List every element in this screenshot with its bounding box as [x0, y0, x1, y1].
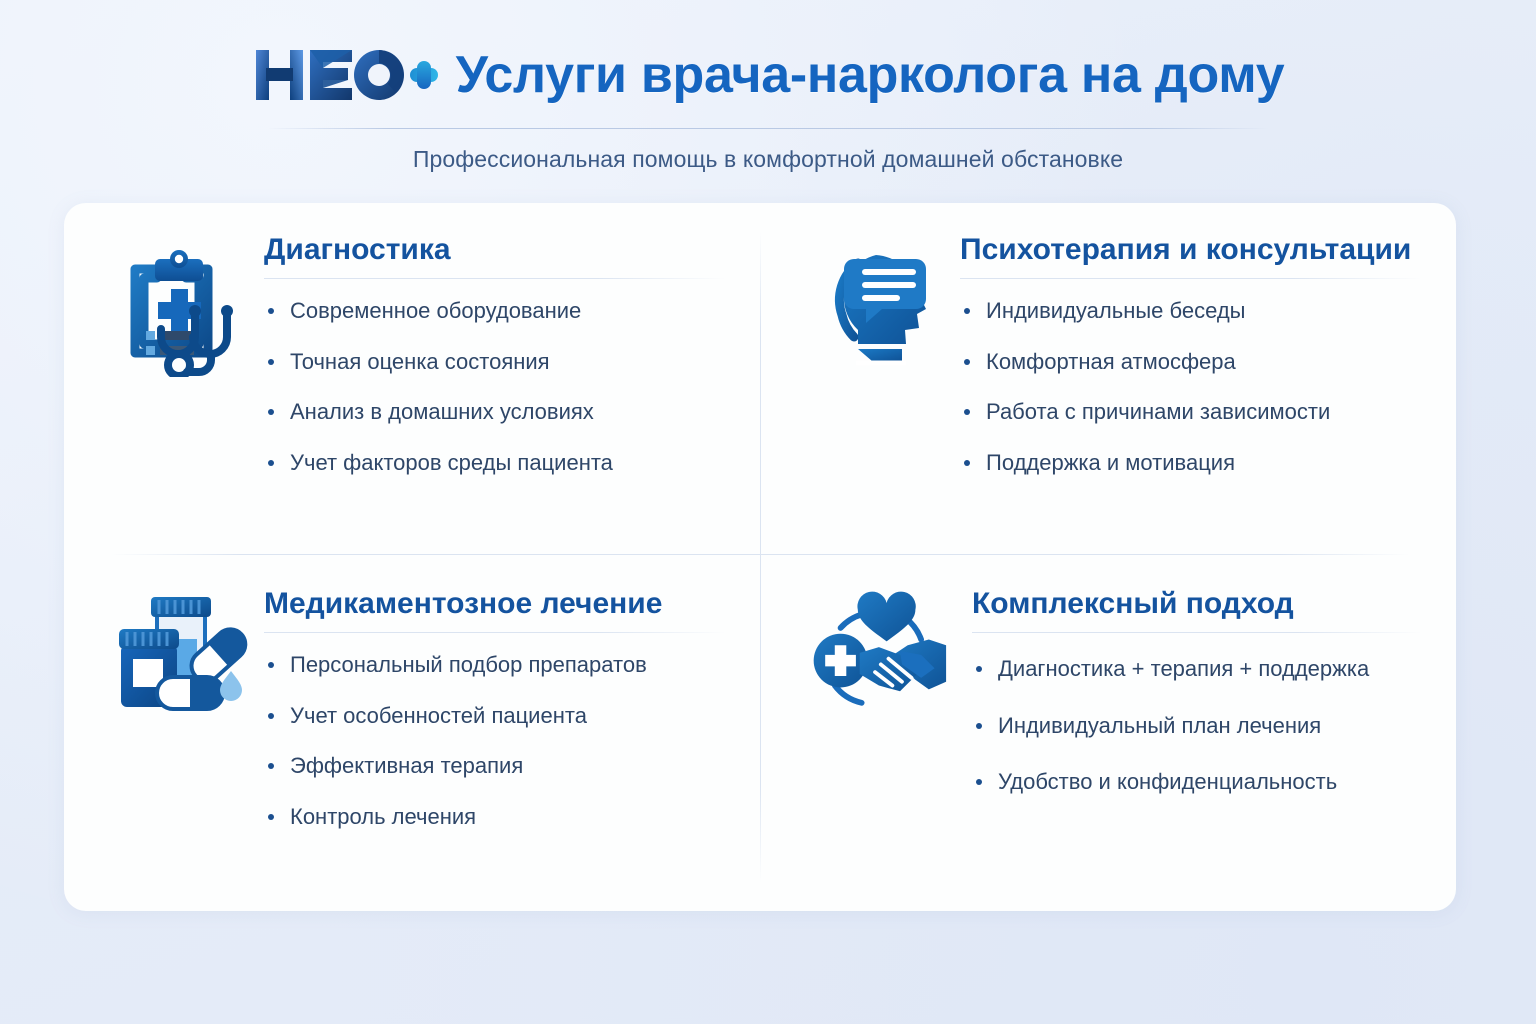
service-block-diagnostics: Диагностика Современное оборудование Точ…	[64, 203, 760, 557]
page-subtitle: Профессиональная помощь в комфортной дом…	[0, 146, 1536, 173]
header: Услуги врача-нарколога на дому Профессио…	[0, 0, 1536, 190]
section-title-underline	[264, 632, 726, 633]
header-title-row: Услуги врача-нарколога на дому	[0, 44, 1536, 106]
section-title: Комплексный подход	[972, 587, 1422, 620]
list-item: Поддержка и мотивация	[960, 449, 1422, 477]
list-item: Учет факторов среды пациента	[264, 449, 726, 477]
list-item: Индивидуальные беседы	[960, 297, 1422, 325]
service-block-comprehensive: Комплексный подход Диагностика + терапия…	[760, 557, 1456, 911]
section-title: Психотерапия и консультации	[960, 233, 1422, 266]
handshake-heart-cross-icon	[806, 587, 948, 711]
section-title: Диагностика	[264, 233, 726, 266]
feature-list: Индивидуальные беседы Комфортная атмосфе…	[960, 297, 1422, 476]
list-item: Работа с причинами зависимости	[960, 398, 1422, 426]
section-title-underline	[264, 278, 726, 279]
list-item: Современное оборудование	[264, 297, 726, 325]
list-item: Учет особенностей пациента	[264, 702, 726, 730]
feature-list: Диагностика + терапия + поддержка Индиви…	[972, 655, 1422, 796]
service-block-medication: Медикаментозное лечение Персональный под…	[64, 557, 760, 911]
list-item: Удобство и конфиденциальность	[972, 768, 1422, 796]
list-item: Диагностика + терапия + поддержка	[972, 655, 1422, 683]
services-grid: Диагностика Современное оборудование Точ…	[64, 203, 1456, 911]
service-block-psychotherapy: Психотерапия и консультации Индивидуальн…	[760, 203, 1456, 557]
service-content: Психотерапия и консультации Индивидуальн…	[948, 233, 1422, 476]
pills-bottles-icon	[110, 587, 252, 715]
feature-list: Современное оборудование Точная оценка с…	[264, 297, 726, 476]
section-title: Медикаментозное лечение	[264, 587, 726, 620]
list-item: Индивидуальный план лечения	[972, 712, 1422, 740]
page-title: Услуги врача-нарколога на дому	[456, 49, 1285, 101]
list-item: Персональный подбор препаратов	[264, 651, 726, 679]
list-item: Контроль лечения	[264, 803, 726, 831]
service-content: Диагностика Современное оборудование Точ…	[252, 233, 726, 476]
header-divider	[268, 128, 1268, 129]
service-content: Комплексный подход Диагностика + терапия…	[948, 587, 1422, 825]
list-item: Эффективная терапия	[264, 752, 726, 780]
service-content: Медикаментозное лечение Персональный под…	[252, 587, 726, 830]
list-item: Анализ в домашних условиях	[264, 398, 726, 426]
infographic-page: Услуги врача-нарколога на дому Профессио…	[0, 0, 1536, 1024]
list-item: Комфортная атмосфера	[960, 348, 1422, 376]
section-title-underline	[972, 632, 1422, 633]
list-item: Точная оценка состояния	[264, 348, 726, 376]
services-card: Диагностика Современное оборудование Точ…	[64, 203, 1456, 911]
head-speech-bubble-icon	[806, 233, 948, 373]
section-title-underline	[960, 278, 1422, 279]
neo-plus-logo	[252, 44, 438, 106]
feature-list: Персональный подбор препаратов Учет особ…	[264, 651, 726, 830]
clipboard-stethoscope-icon	[110, 233, 252, 377]
